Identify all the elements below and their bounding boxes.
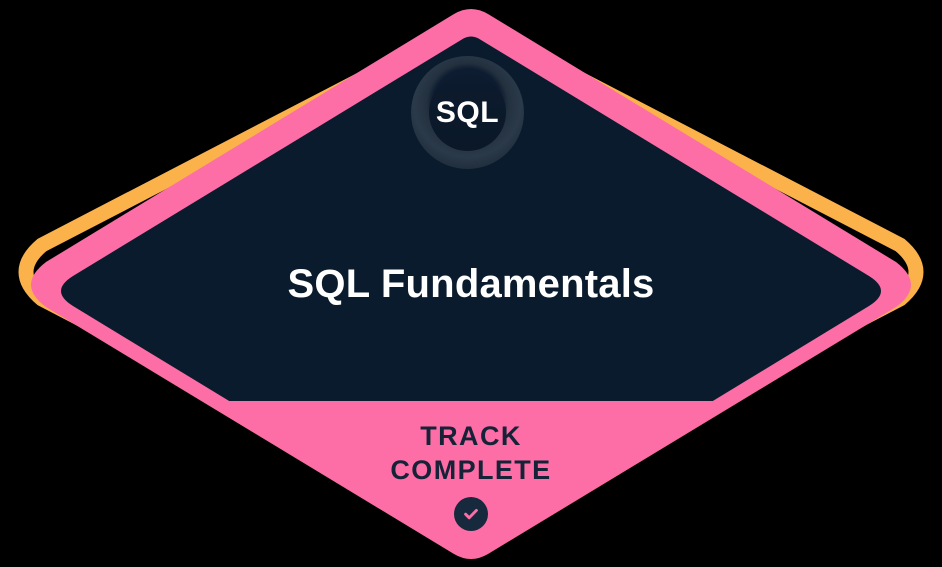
status-line-primary: TRACK: [0, 419, 942, 453]
status-line-secondary: COMPLETE: [0, 453, 942, 487]
track-status-block: TRACK COMPLETE: [0, 419, 942, 531]
track-title: SQL Fundamentals: [0, 258, 942, 310]
track-completion-badge: SQL SQL Fundamentals TRACK COMPLETE: [0, 0, 942, 567]
sql-emblem-circle: SQL: [411, 56, 524, 169]
sql-emblem-label: SQL: [436, 98, 499, 128]
check-circle-icon: [454, 497, 488, 531]
